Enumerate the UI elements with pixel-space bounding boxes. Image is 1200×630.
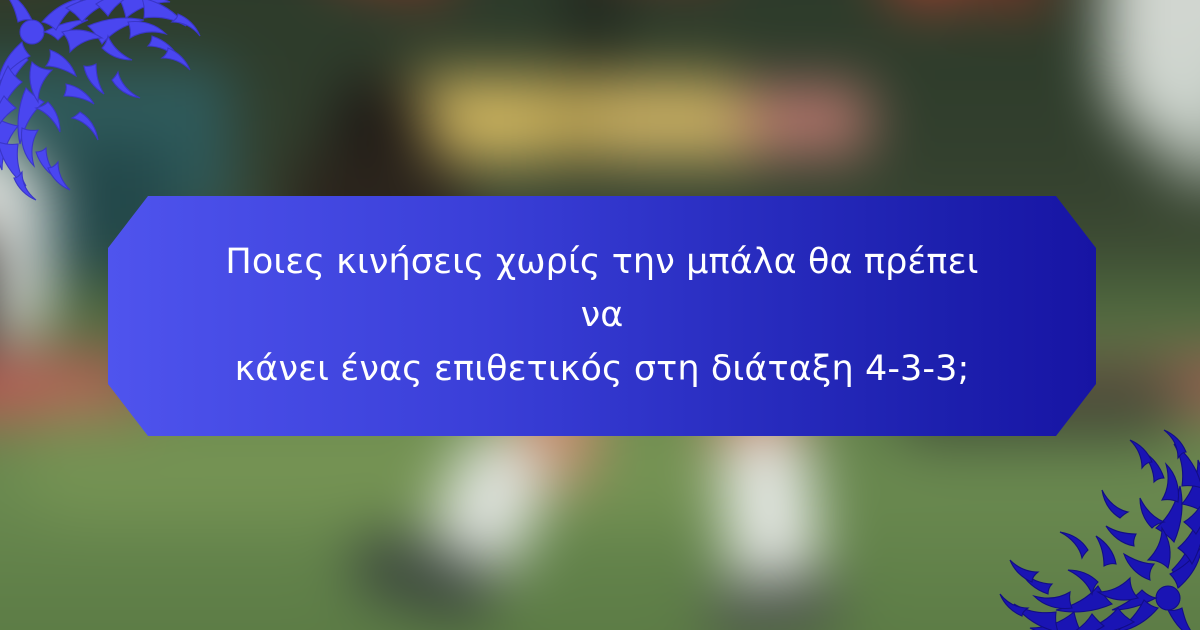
photo-pink-band xyxy=(746,85,869,154)
question-line-1: Ποιες κινήσεις χωρίς την μπάλα θα πρέπει… xyxy=(202,236,1002,342)
question-text: Ποιες κινήσεις χωρίς την μπάλα θα πρέπει… xyxy=(172,236,1032,396)
question-banner: Ποιες κινήσεις χωρίς την μπάλα θα πρέπει… xyxy=(108,196,1096,436)
question-line-2: κάνει ένας επιθετικός στη διάταξη 4-3-3; xyxy=(202,343,1002,396)
photo-white-figure xyxy=(0,153,49,343)
photo-yellow-band-3 xyxy=(600,88,768,162)
share-card: Ποιες κινήσεις χωρίς την μπάλα θα πρέπει… xyxy=(0,0,1200,630)
